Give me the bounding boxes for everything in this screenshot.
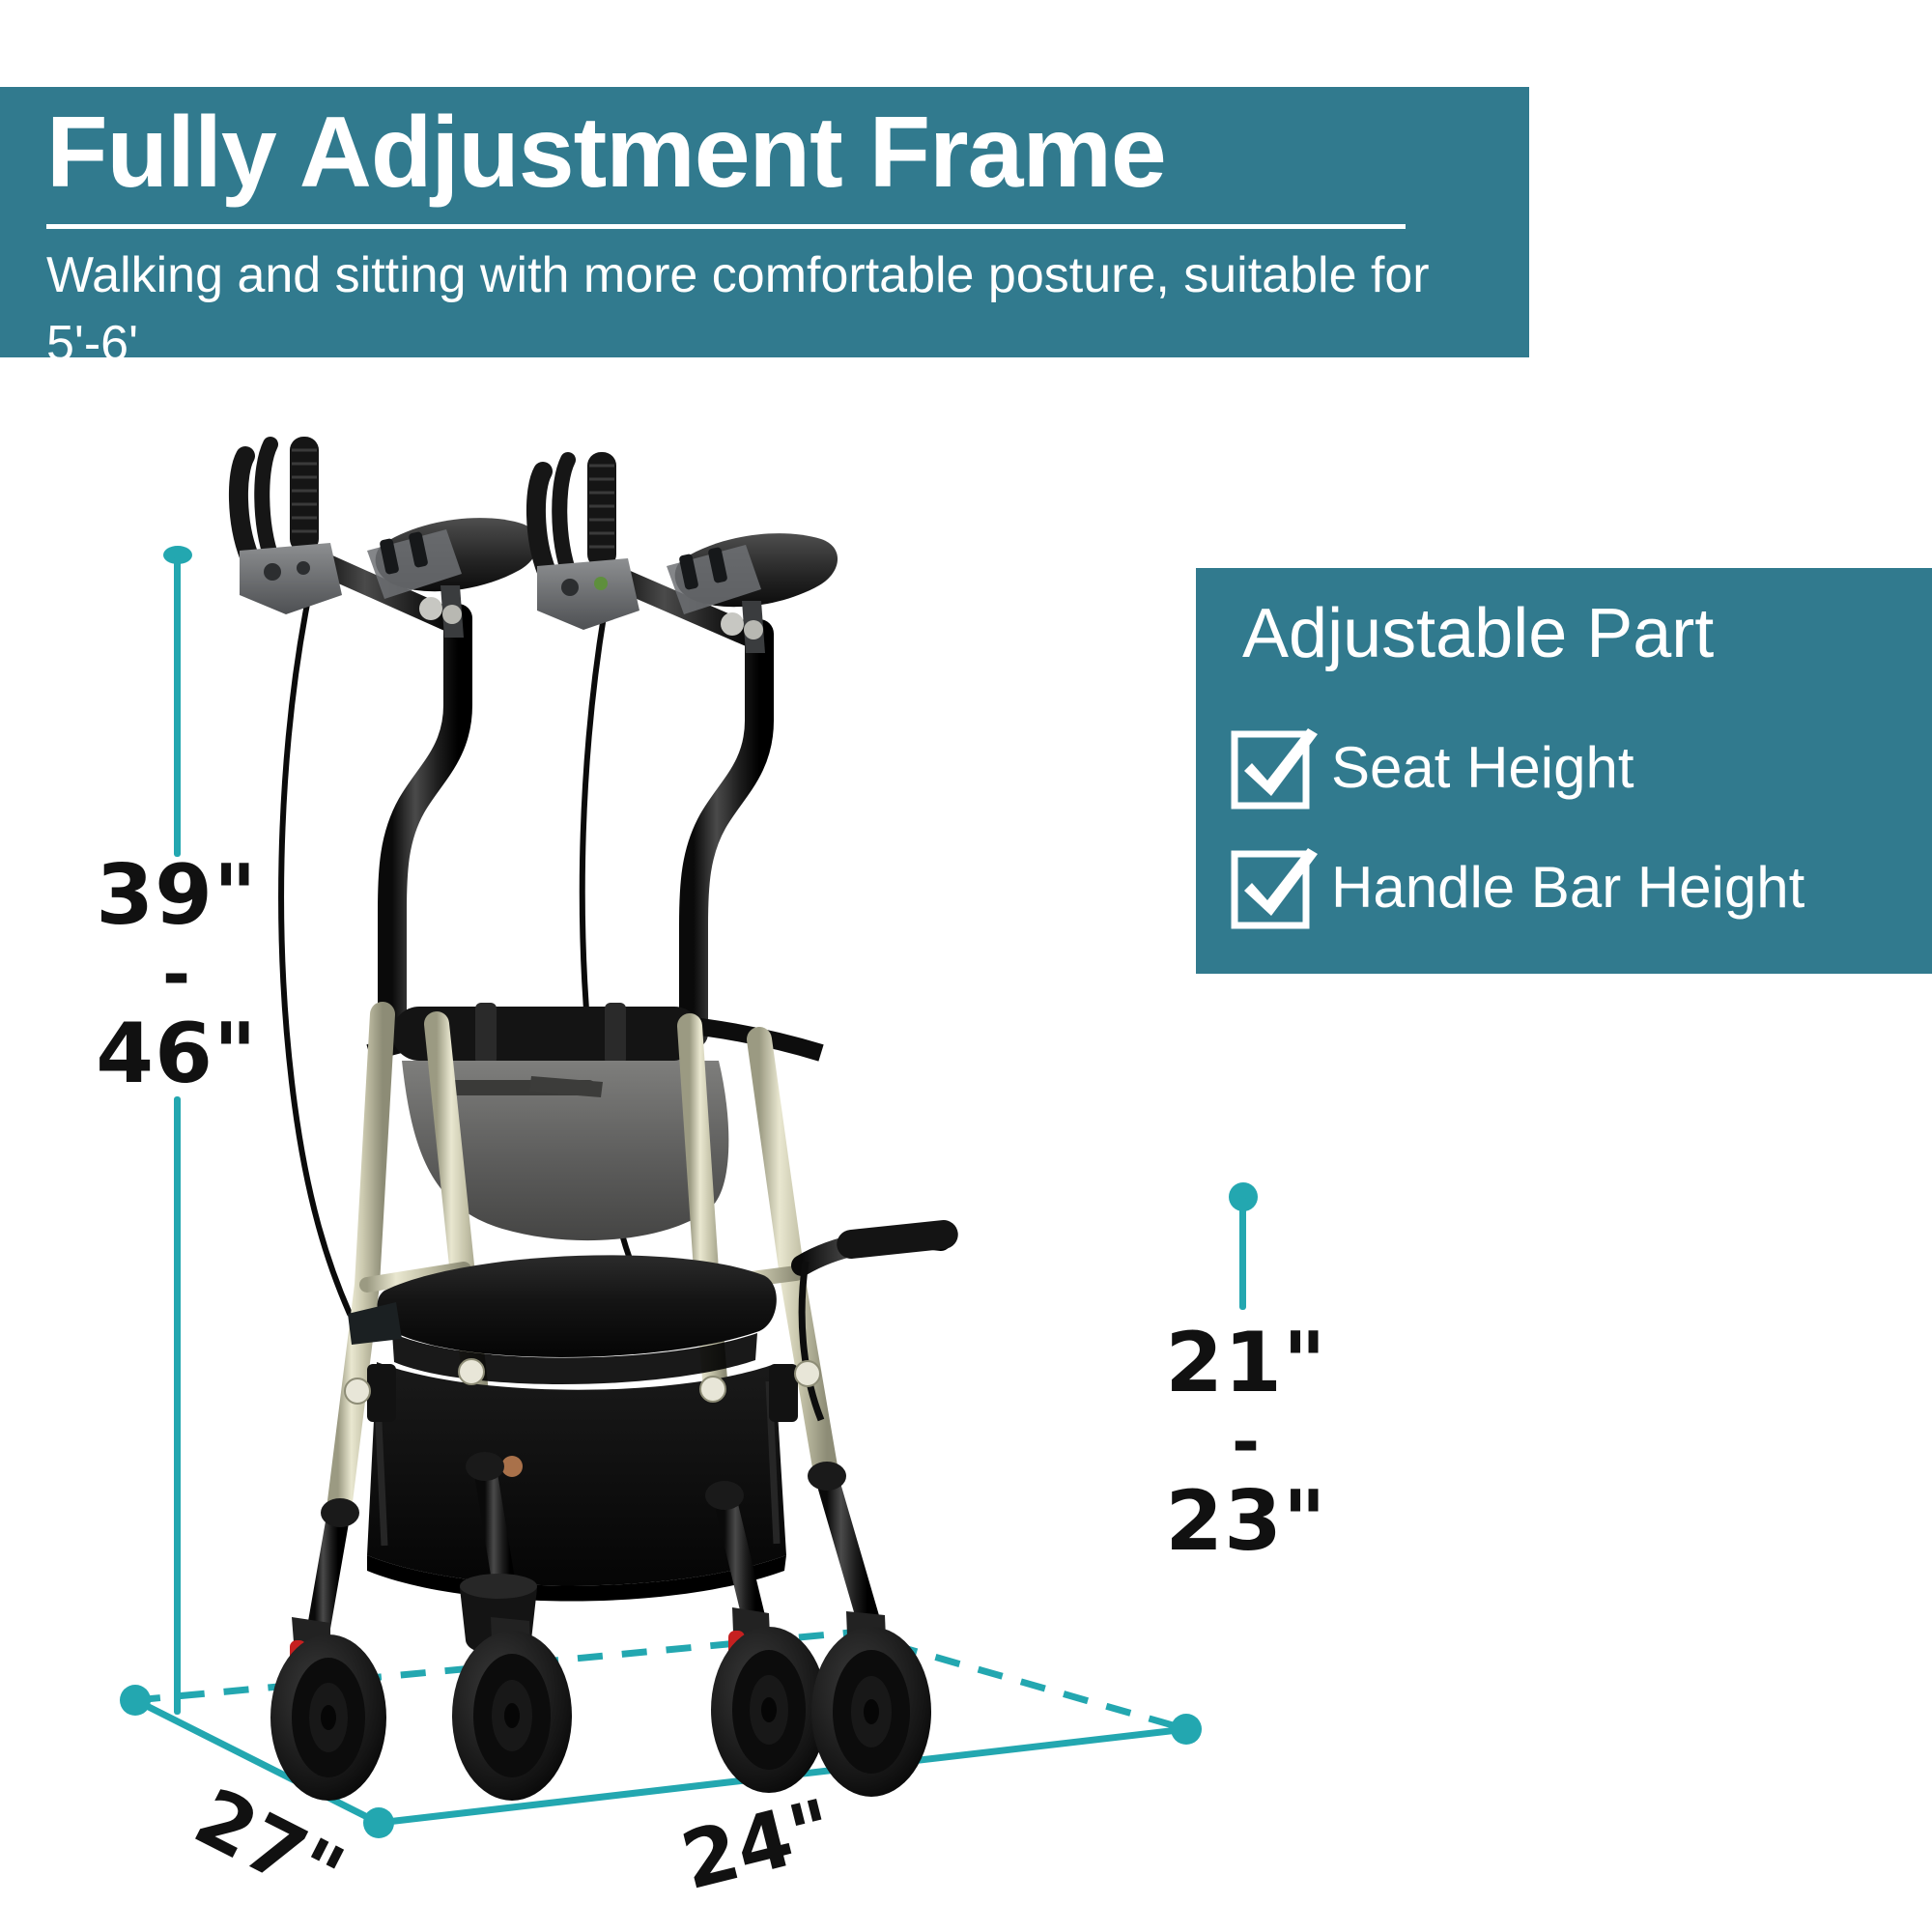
footprint-corner-dot-front bbox=[363, 1807, 394, 1838]
checkbox-checked-icon bbox=[1233, 852, 1304, 923]
infographic-page: Fully Adjustment Frame Walking and sitti… bbox=[0, 0, 1932, 1932]
footprint-corner-dot-right bbox=[1171, 1714, 1202, 1745]
left-handle-grip bbox=[290, 437, 319, 553]
right-upright-post bbox=[694, 634, 759, 1034]
adjustable-item-handle-bar-height: Handle Bar Height bbox=[1233, 852, 1804, 923]
wheel-rear-left bbox=[270, 1617, 386, 1801]
adjustable-part-title: Adjustable Part bbox=[1242, 595, 1714, 672]
bag-strap-right bbox=[769, 1364, 798, 1422]
footprint-corner-dot-left bbox=[120, 1685, 151, 1716]
seat-height-dash: - bbox=[1116, 1406, 1377, 1478]
seat-height-dimension-label: 21" - 23" bbox=[1116, 1320, 1377, 1565]
adjustable-item-seat-height: Seat Height bbox=[1233, 732, 1634, 804]
wheel-rear-right bbox=[711, 1607, 827, 1793]
left-upright-post bbox=[392, 618, 458, 1020]
seat-height-value-min: 21" bbox=[1165, 1315, 1326, 1411]
height-dimension-line-upper bbox=[174, 555, 181, 857]
rear-grip bbox=[836, 1218, 959, 1260]
adjustable-part-panel: Adjustable Part Seat Height Handle Bar H… bbox=[1196, 568, 1932, 974]
bag-strap-left bbox=[367, 1364, 396, 1422]
right-front-lower bbox=[827, 1478, 867, 1617]
left-brake-lever bbox=[239, 456, 249, 556]
title-divider bbox=[46, 224, 1406, 229]
adjustable-item-label: Handle Bar Height bbox=[1331, 856, 1804, 920]
left-brake-housing bbox=[240, 543, 342, 614]
seat-height-dimension-line bbox=[1239, 1196, 1246, 1310]
page-title: Fully Adjustment Frame bbox=[46, 102, 1166, 203]
bag-rivet bbox=[501, 1456, 523, 1477]
header-banner: Fully Adjustment Frame Walking and sitti… bbox=[0, 87, 1529, 357]
checkbox-checked-icon bbox=[1233, 732, 1304, 804]
adjustable-item-label: Seat Height bbox=[1331, 736, 1634, 800]
product-image-rollator-walker bbox=[222, 415, 1150, 1768]
right-handle-grip bbox=[587, 452, 616, 568]
banner-subtitle: Walking and sitting with more comfortabl… bbox=[46, 241, 1476, 379]
wheel-front-right bbox=[811, 1611, 931, 1797]
right-brake-lever bbox=[536, 471, 547, 572]
rear-side-handle bbox=[802, 1218, 959, 1420]
right-brake-housing bbox=[537, 558, 639, 630]
